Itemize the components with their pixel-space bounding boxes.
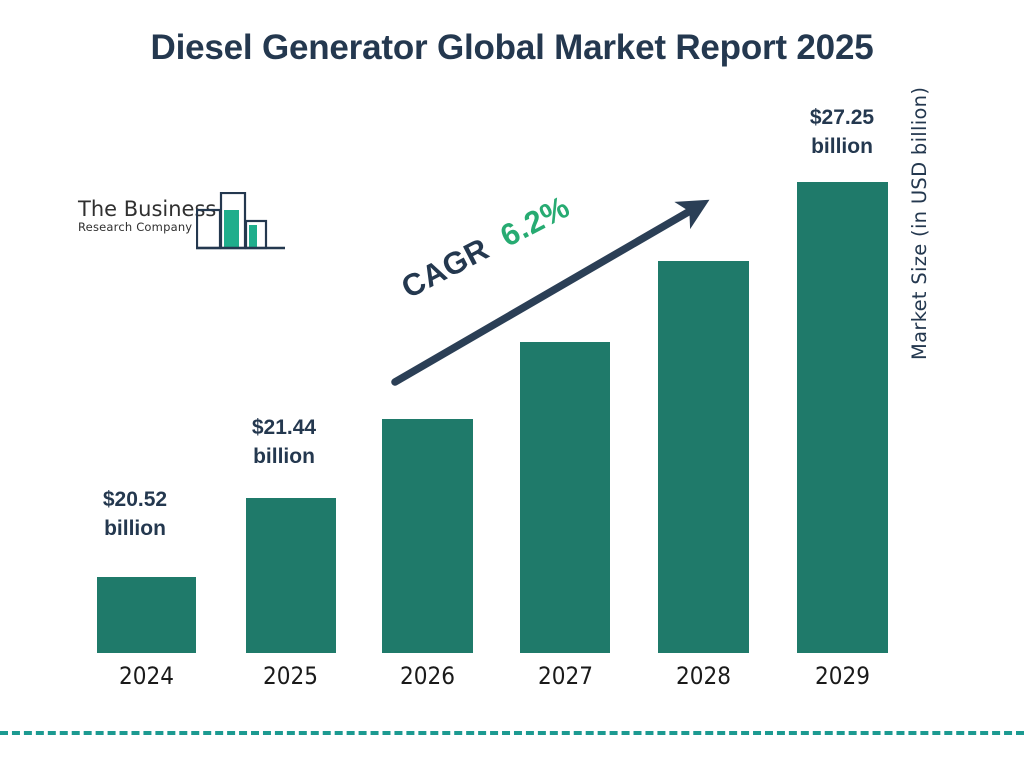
bar-value-2029-amount: $27.25 (772, 103, 912, 132)
bar-value-2025-amount: $21.44 (224, 413, 344, 442)
footer-divider (0, 731, 1024, 735)
bar-2026 (382, 419, 473, 653)
xtick-2025: 2025 (241, 662, 340, 690)
bar-2024 (97, 577, 196, 653)
bar-value-2029: $27.25 billion (772, 103, 912, 161)
bar-value-2025-unit: billion (224, 442, 344, 471)
chart-page: Diesel Generator Global Market Report 20… (0, 0, 1024, 768)
xtick-2027: 2027 (516, 662, 615, 690)
bar-value-2029-unit: billion (772, 132, 912, 161)
xtick-2024: 2024 (97, 662, 196, 690)
bar-2029 (797, 182, 888, 653)
y-axis-label: Market Size (in USD billion) (908, 0, 931, 360)
bar-value-2025: $21.44 billion (224, 413, 344, 471)
bar-chart: $20.52 billion $21.44 billion $27.25 bil… (0, 0, 1024, 768)
xtick-2026: 2026 (378, 662, 477, 690)
bar-value-2024-unit: billion (75, 514, 195, 543)
bar-value-2024: $20.52 billion (75, 485, 195, 543)
xtick-2029: 2029 (793, 662, 892, 690)
xtick-2028: 2028 (654, 662, 753, 690)
bar-2025 (246, 498, 336, 653)
bar-value-2024-amount: $20.52 (75, 485, 195, 514)
